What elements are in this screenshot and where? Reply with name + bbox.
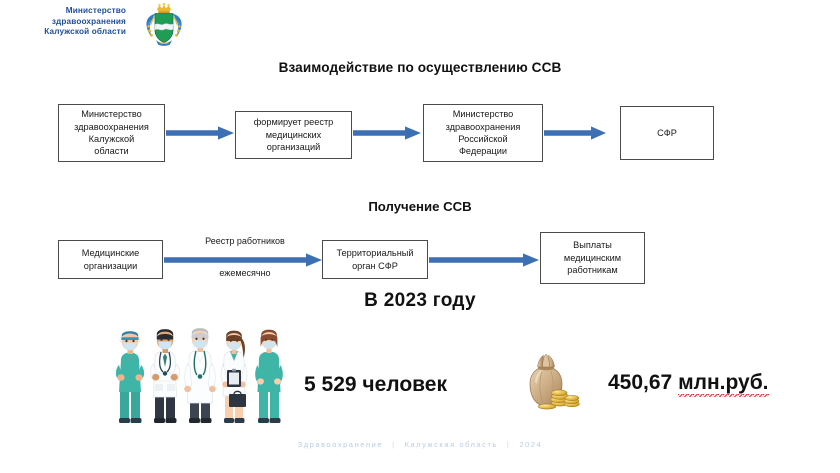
flow1-arrow-2 bbox=[353, 126, 421, 140]
box-text-line: Выплаты bbox=[564, 239, 621, 251]
kaluga-oblast-coat-of-arms-icon bbox=[136, 3, 192, 47]
flow1-box-sfr: СФР bbox=[620, 106, 714, 160]
ministry-name-line-3: Калужской области bbox=[8, 27, 126, 38]
flow2-box-territorial-sfr: Территориальный орган СФР bbox=[322, 240, 428, 279]
flow2-box-medical-orgs: Медицинские организации bbox=[58, 240, 163, 279]
box-text-line: Министерство bbox=[446, 108, 521, 120]
footer-separator: | bbox=[498, 440, 520, 449]
flow1-box-ministry-rf: Министерство здравоохранения Российской … bbox=[423, 104, 543, 162]
stat-money-amount: 450,67 млн.руб. bbox=[608, 371, 769, 395]
stat-money-number: 450,67 bbox=[608, 371, 678, 394]
footer-item-region: Калужская область bbox=[405, 440, 498, 449]
box-text-line: орган СФР bbox=[336, 260, 413, 272]
box-text-line: области bbox=[74, 145, 149, 157]
box-text-line: здравоохранения bbox=[446, 121, 521, 133]
box-text-line: Федерации bbox=[446, 145, 521, 157]
box-text-line: медицинским bbox=[564, 252, 621, 264]
box-text-line: здравоохранения bbox=[74, 121, 149, 133]
flow2-box-payments: Выплаты медицинским работникам bbox=[540, 232, 645, 284]
flow1-box-ministry-kaluga: Министерство здравоохранения Калужской о… bbox=[58, 104, 165, 162]
footer-item-year: 2024 bbox=[519, 440, 542, 449]
box-text-line: Калужской bbox=[74, 133, 149, 145]
flow2-arrow-2 bbox=[429, 253, 539, 267]
section-title-receipt: Получение ССВ bbox=[0, 199, 840, 214]
year-heading: В 2023 году bbox=[0, 290, 840, 312]
flow1-arrow-1 bbox=[166, 126, 234, 140]
money-bag-illustration-icon bbox=[516, 352, 588, 414]
footer-separator: | bbox=[383, 440, 405, 449]
footer-item-branch: Здравоохранение bbox=[298, 440, 383, 449]
box-text-line: работникам bbox=[564, 264, 621, 276]
flow1-arrow-3 bbox=[544, 126, 606, 140]
medical-workers-illustration-icon bbox=[108, 318, 288, 426]
ministry-name-line-1: Министерство bbox=[8, 6, 126, 17]
flow1-box-registry: формирует реестр медицинских организаций bbox=[235, 111, 352, 159]
box-text-line: организации bbox=[82, 260, 139, 272]
header-branding: Министерство здравоохранения Калужской о… bbox=[8, 3, 238, 47]
box-text-line: медицинских bbox=[254, 129, 334, 141]
section-title-interaction: Взаимодействие по осуществлению ССВ bbox=[0, 60, 840, 75]
box-text-line: формирует реестр bbox=[254, 116, 334, 128]
stat-money-unit: млн.руб. bbox=[678, 371, 768, 397]
ministry-name-line-2: здравоохранения bbox=[8, 17, 126, 28]
flow2-arrow-1 bbox=[164, 253, 322, 267]
box-text-line: Министерство bbox=[74, 108, 149, 120]
box-text-line: организаций bbox=[254, 141, 334, 153]
box-text-line: СФР bbox=[657, 127, 677, 139]
box-text-line: Российской bbox=[446, 133, 521, 145]
ministry-name: Министерство здравоохранения Калужской о… bbox=[8, 3, 126, 38]
stat-people-count: 5 529 человек bbox=[304, 373, 447, 397]
flow2-arrow-label-above: Реестр работников bbox=[180, 236, 310, 246]
footer: Здравоохранение|Калужская область|2024 bbox=[0, 440, 840, 449]
box-text-line: Медицинские bbox=[82, 247, 139, 259]
flow2-arrow-label-below: ежемесячно bbox=[190, 268, 300, 278]
box-text-line: Территориальный bbox=[336, 247, 413, 259]
